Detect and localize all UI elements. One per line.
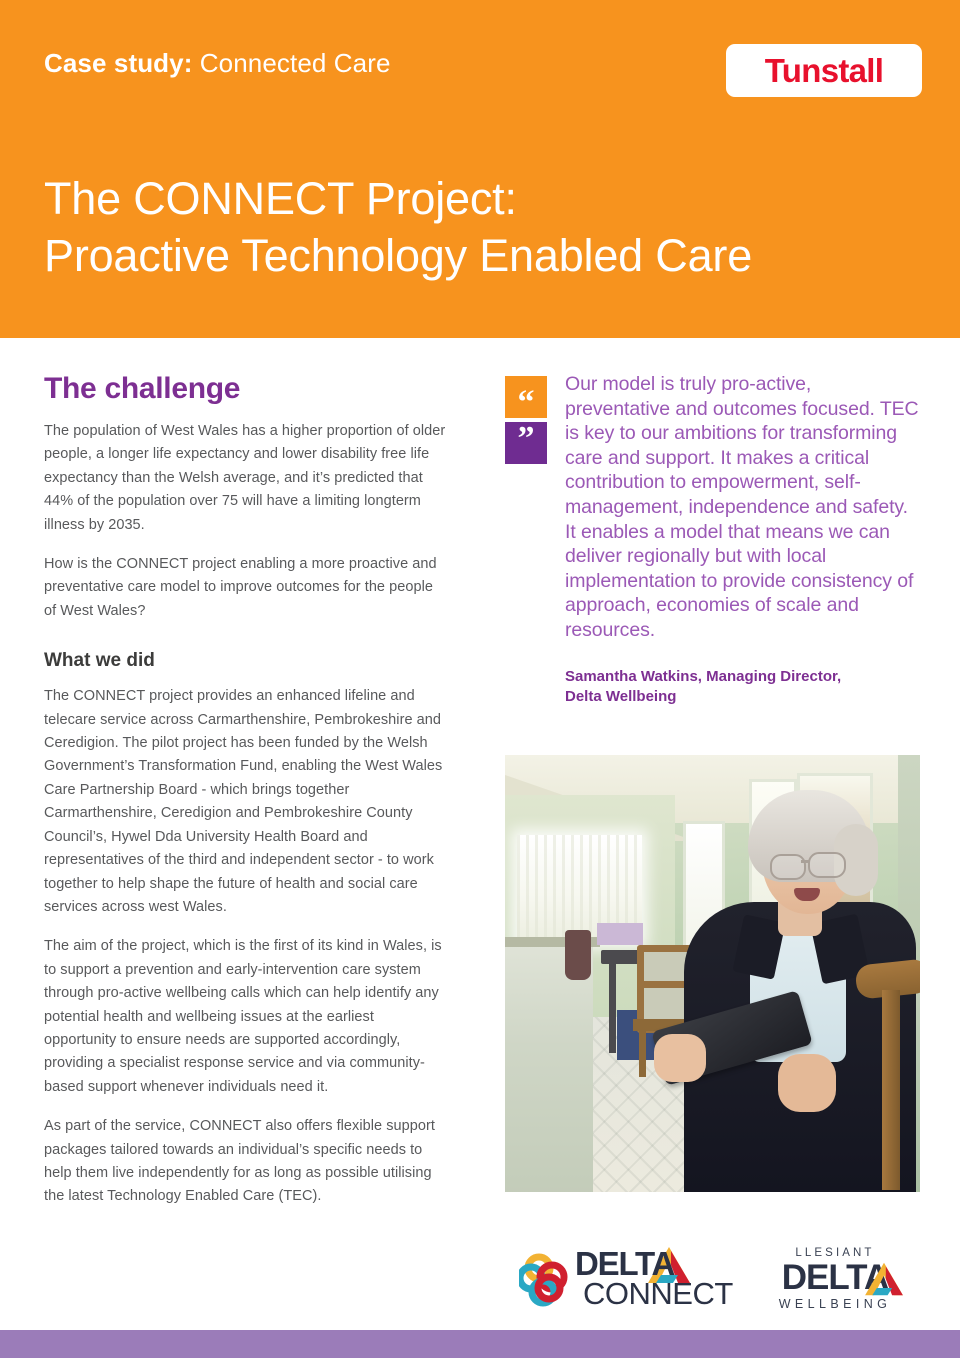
pull-quote: “ ” Our model is truly pro-active, preve… [505, 372, 920, 643]
attribution-name-role: Samantha Watkins, Managing Director, [565, 667, 920, 687]
what-we-did-paragraph-2: The aim of the project, which is the fir… [44, 935, 448, 1099]
quote-open-icon: “ [505, 376, 547, 418]
quote-open-glyph: “ [518, 386, 535, 420]
pull-quote-text: Our model is truly pro-active, preventat… [565, 372, 920, 643]
photo-person-hand-right [778, 1054, 836, 1112]
kicker-value: Connected Care [192, 48, 390, 78]
tunstall-logo: Tunstall [726, 44, 922, 97]
header-banner: Case study: Connected Care Tunstall The … [0, 0, 960, 338]
page-title-line-2: Proactive Technology Enabled Care [44, 227, 874, 284]
section-title-challenge: The challenge [44, 372, 448, 406]
page-title-line-1: The CONNECT Project: [44, 170, 874, 227]
left-content-column: The challenge The population of West Wal… [44, 372, 448, 1209]
tunstall-logo-text: Tunstall [765, 54, 883, 87]
delta-wellbeing-triangle-icon [864, 1261, 904, 1297]
challenge-paragraph-1: The population of West Wales has a highe… [44, 420, 448, 537]
photo-table-leg [609, 963, 616, 1053]
photo-bag [565, 930, 591, 980]
section-title-what-we-did: What we did [44, 649, 448, 673]
photo-person [666, 772, 920, 1192]
pull-quote-attribution: Samantha Watkins, Managing Director, Del… [505, 667, 920, 707]
page-title: The CONNECT Project: Proactive Technolog… [44, 170, 874, 284]
what-we-did-paragraph-3: As part of the service, CONNECT also off… [44, 1115, 448, 1209]
interlocking-rings-icon [519, 1251, 577, 1309]
quote-close-icon: ” [505, 422, 547, 464]
photo-chair-leg-front [639, 1031, 646, 1077]
photo-person-glasses-left [770, 854, 806, 880]
photo-person-glasses-bridge [801, 860, 810, 863]
right-content-column: “ ” Our model is truly pro-active, preve… [505, 372, 920, 707]
attribution-organisation: Delta Wellbeing [565, 687, 920, 707]
photo-shelf-items [597, 923, 643, 945]
bottom-accent-bar [0, 1330, 960, 1358]
what-we-did-paragraph-1: The CONNECT project provides an enhanced… [44, 685, 448, 919]
kicker-label: Case study: [44, 48, 192, 78]
challenge-paragraph-2: How is the CONNECT project enabling a mo… [44, 553, 448, 623]
kicker: Case study: Connected Care [44, 46, 391, 80]
photo-scene [505, 755, 920, 1192]
quote-close-glyph: ” [518, 422, 535, 456]
quote-marks: “ ” [505, 376, 547, 464]
delta-connect-word-connect: CONNECT [583, 1277, 733, 1311]
footer-logos: DELTA CONNECT LLESIANT DELTA WELLBEING [505, 1240, 925, 1322]
case-study-photo [505, 755, 920, 1192]
delta-wellbeing-logo: LLESIANT DELTA WELLBEING [759, 1246, 911, 1316]
photo-person-glasses-right [808, 852, 846, 878]
delta-connect-logo: DELTA CONNECT [519, 1247, 715, 1315]
photo-armchair-post [882, 990, 900, 1190]
delta-wellbeing-word-wellbeing: WELLBEING [759, 1296, 911, 1312]
photo-person-hand-left [654, 1034, 706, 1082]
case-study-page: Case study: Connected Care Tunstall The … [0, 0, 960, 1358]
